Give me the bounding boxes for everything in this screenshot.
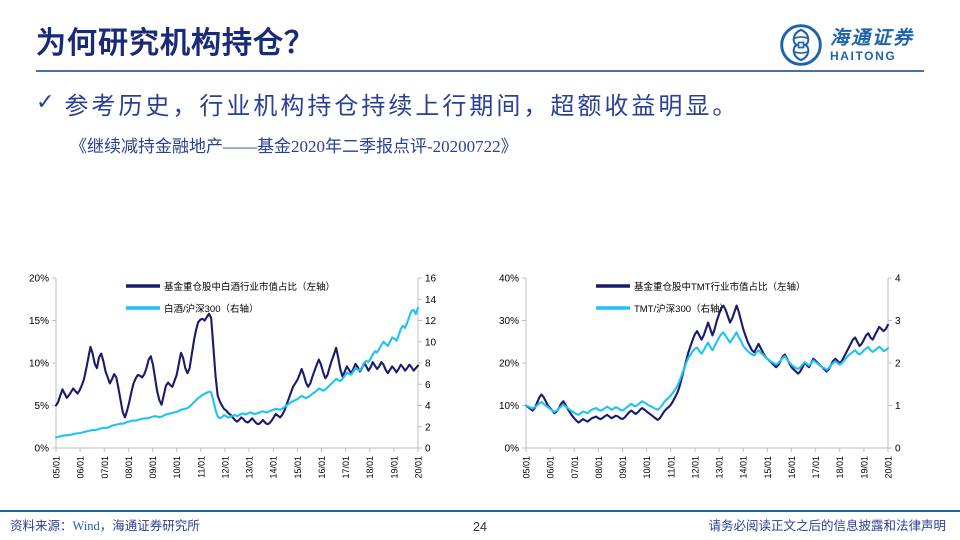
- bullet-row: ✓ 参考历史，行业机构持仓持续上行期间，超额收益明显。: [36, 86, 930, 121]
- x-axis-label: 16/01: [787, 456, 797, 479]
- x-axis-label: 10/01: [642, 456, 652, 479]
- title-divider: [36, 70, 924, 72]
- chart-baijiu: 0%5%10%15%20%024681012141605/0106/0107/0…: [10, 262, 460, 502]
- x-axis-label: 17/01: [811, 456, 821, 479]
- right-axis-label: 1: [895, 401, 901, 412]
- left-axis-label: 30%: [499, 316, 519, 327]
- x-axis-label: 09/01: [148, 456, 158, 479]
- x-axis-label: 13/01: [715, 456, 725, 479]
- x-axis-label: 19/01: [859, 456, 869, 479]
- right-axis-label: 6: [425, 380, 431, 391]
- legend-label-1: TMT/沪深300（右轴）: [634, 303, 729, 315]
- right-axis-label: 2: [425, 422, 431, 433]
- left-axis-label: 40%: [499, 274, 519, 285]
- left-axis-label: 15%: [29, 316, 49, 327]
- logo-text-cn: 海通证券: [830, 29, 914, 48]
- legend-label-1: 白酒/沪深300（右轴）: [164, 303, 259, 315]
- x-axis-label: 06/01: [76, 456, 86, 479]
- x-axis-label: 19/01: [389, 456, 399, 479]
- right-axis-label: 4: [895, 274, 901, 285]
- page-title: 为何研究机构持仓？: [36, 18, 315, 62]
- legend-label-0: 基金重仓股中白酒行业市值占比（左轴）: [164, 281, 335, 293]
- x-axis-label: 11/01: [196, 456, 206, 478]
- logo-emblem-icon: [780, 24, 822, 66]
- x-axis-label: 16/01: [317, 456, 327, 479]
- left-axis-label: 0%: [505, 444, 520, 455]
- right-axis-label: 3: [895, 316, 901, 327]
- report-reference: 《继续减持金融地产——基金2020年二季报点评-20200722》: [70, 132, 518, 157]
- x-axis-label: 06/01: [546, 456, 556, 479]
- series-line-0: [526, 306, 888, 423]
- right-axis-label: 4: [425, 401, 431, 412]
- left-axis-label: 20%: [499, 359, 519, 370]
- x-axis-label: 18/01: [835, 456, 845, 479]
- footer-divider: [0, 510, 960, 512]
- slide-root: 为何研究机构持仓？ 海通证券 HAITONG ✓ 参考历史，行业机构持仓持续上行…: [0, 0, 960, 540]
- x-axis-label: 09/01: [618, 456, 628, 479]
- x-axis-label: 20/01: [884, 456, 894, 479]
- logo-text-en: HAITONG: [830, 50, 896, 62]
- x-axis-label: 15/01: [763, 456, 773, 479]
- x-axis-label: 17/01: [341, 456, 351, 479]
- left-axis-label: 10%: [29, 359, 49, 370]
- x-axis-label: 18/01: [365, 456, 375, 479]
- check-icon: ✓: [36, 91, 54, 113]
- x-axis-label: 05/01: [522, 456, 532, 479]
- left-axis-label: 10%: [499, 401, 519, 412]
- bullet-text: 参考历史，行业机构持仓持续上行期间，超额收益明显。: [64, 86, 739, 121]
- right-axis-label: 0: [895, 444, 901, 455]
- x-axis-label: 12/01: [220, 456, 230, 479]
- x-axis-label: 20/01: [414, 456, 424, 479]
- x-axis-label: 15/01: [293, 456, 303, 479]
- x-axis-label: 08/01: [594, 456, 604, 479]
- right-axis-label: 0: [425, 444, 431, 455]
- x-axis-label: 08/01: [124, 456, 134, 479]
- right-axis-label: 8: [425, 359, 431, 370]
- x-axis-label: 14/01: [269, 456, 279, 479]
- left-axis-label: 5%: [35, 401, 50, 412]
- legend-label-0: 基金重仓股中TMT行业市值占比（左轴）: [634, 281, 806, 293]
- x-axis-label: 10/01: [172, 456, 182, 479]
- right-axis-label: 14: [425, 295, 437, 306]
- series-line-1: [56, 308, 418, 438]
- left-axis-label: 20%: [29, 274, 49, 285]
- x-axis-label: 05/01: [52, 456, 62, 479]
- chart-baijiu-svg: 0%5%10%15%20%024681012141605/0106/0107/0…: [10, 262, 460, 502]
- x-axis-label: 13/01: [245, 456, 255, 479]
- right-axis-label: 12: [425, 316, 437, 327]
- x-axis-label: 14/01: [739, 456, 749, 479]
- right-axis-label: 2: [895, 359, 901, 370]
- series-line-1: [526, 332, 888, 414]
- chart-tmt-svg: 0%10%20%30%40%0123405/0106/0107/0108/010…: [480, 262, 930, 502]
- haitong-logo: 海通证券 HAITONG: [780, 20, 930, 70]
- right-axis-label: 16: [425, 274, 437, 285]
- right-axis-label: 10: [425, 337, 437, 348]
- x-axis-label: 12/01: [690, 456, 700, 479]
- series-line-0: [56, 314, 418, 425]
- left-axis-label: 0%: [35, 444, 50, 455]
- x-axis-label: 11/01: [666, 456, 676, 478]
- x-axis-label: 07/01: [100, 456, 110, 479]
- x-axis-label: 07/01: [570, 456, 580, 479]
- footer-disclaimer: 请务必阅读正文之后的信息披露和法律声明: [708, 515, 946, 534]
- chart-tmt: 0%10%20%30%40%0123405/0106/0107/0108/010…: [480, 262, 930, 502]
